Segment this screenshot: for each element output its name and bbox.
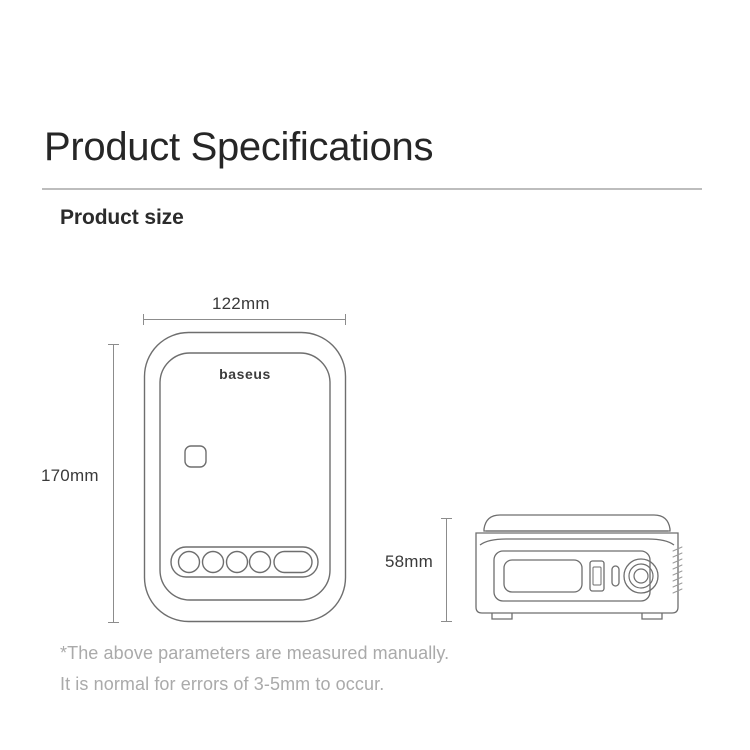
usb-a-port-icon	[590, 561, 604, 591]
dimension-label-depth: 58mm	[385, 552, 433, 572]
section-subtitle-product-size: Product size	[60, 206, 184, 230]
slot-port-icon	[612, 566, 619, 586]
dimension-line-height	[113, 344, 114, 623]
front-port-strip	[171, 547, 318, 577]
power-button-icon[interactable]	[185, 446, 206, 467]
side-foot-right	[642, 613, 662, 619]
front-view-drawing: baseus	[143, 331, 347, 623]
side-view-drawing	[466, 507, 688, 627]
round-port-1	[179, 552, 200, 573]
side-top-lid	[484, 515, 670, 531]
product-specifications-page: Product Specifications Product size 122m…	[0, 0, 750, 750]
round-port-4	[250, 552, 271, 573]
dimension-line-depth	[446, 518, 447, 622]
front-inner-face	[160, 353, 330, 600]
footnote-line-1: *The above parameters are measured manua…	[60, 643, 449, 664]
side-foot-left	[492, 613, 512, 619]
page-title: Product Specifications	[44, 126, 433, 169]
dimension-label-width: 122mm	[212, 294, 270, 314]
brand-logo-text: baseus	[219, 366, 271, 382]
dimension-label-height: 170mm	[41, 466, 99, 486]
side-body-contour	[480, 539, 674, 545]
pill-port-1	[274, 552, 312, 573]
side-front-recess	[494, 551, 650, 601]
round-port-3	[227, 552, 248, 573]
dimension-line-width	[143, 319, 346, 320]
footnote-line-2: It is normal for errors of 3-5mm to occu…	[60, 674, 384, 695]
barrel-jack-icon	[624, 559, 658, 593]
display-panel-icon	[504, 560, 582, 592]
round-port-2	[203, 552, 224, 573]
title-divider	[42, 188, 702, 190]
